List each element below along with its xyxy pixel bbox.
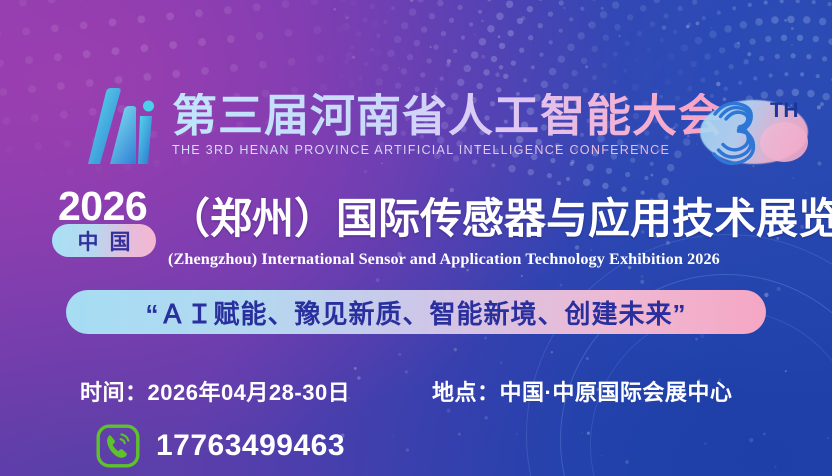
- ai-logo-icon: [62, 86, 158, 164]
- phone-icon: [96, 424, 140, 468]
- conference-title-block: 第三届河南省人工智能大会 THE 3RD HENAN PROVINCE ARTI…: [172, 93, 724, 158]
- slogan-text: “ＡＩ赋能、豫见新质、智能新境、创建未来”: [145, 294, 686, 331]
- edition-badge: TH: [697, 86, 819, 172]
- badge-number-3-icon: [703, 96, 779, 170]
- event-place: 地点：中国·中原国际会展中心: [432, 375, 732, 407]
- phone-number: 17763499463: [156, 429, 345, 463]
- badge-suffix: TH: [770, 99, 799, 123]
- country-badge-label: 中国: [67, 226, 142, 256]
- slogan-banner: “ＡＩ赋能、豫见新质、智能新境、创建未来”: [66, 290, 766, 334]
- exhibition-year: 2026: [58, 186, 147, 227]
- country-badge: 中国: [52, 224, 156, 257]
- conference-subtitle-en: THE 3RD HENAN PROVINCE ARTIFICIAL INTELL…: [172, 143, 724, 157]
- exhibition-headline-cn: （郑州）国际传感器与应用技术展览会: [168, 185, 832, 246]
- conference-header: 第三届河南省人工智能大会 THE 3RD HENAN PROVINCE ARTI…: [62, 82, 782, 168]
- event-time: 时间：2026年04月28-30日: [80, 375, 350, 407]
- exhibition-headline-en: (Zhengzhou) International Sensor and App…: [168, 250, 720, 269]
- conference-poster: 第三届河南省人工智能大会 THE 3RD HENAN PROVINCE ARTI…: [0, 0, 832, 476]
- decor-arc-far: [526, 234, 832, 476]
- contact-phone-row: 17763499463: [96, 424, 345, 468]
- page-title: 第三届河南省人工智能大会: [172, 93, 724, 139]
